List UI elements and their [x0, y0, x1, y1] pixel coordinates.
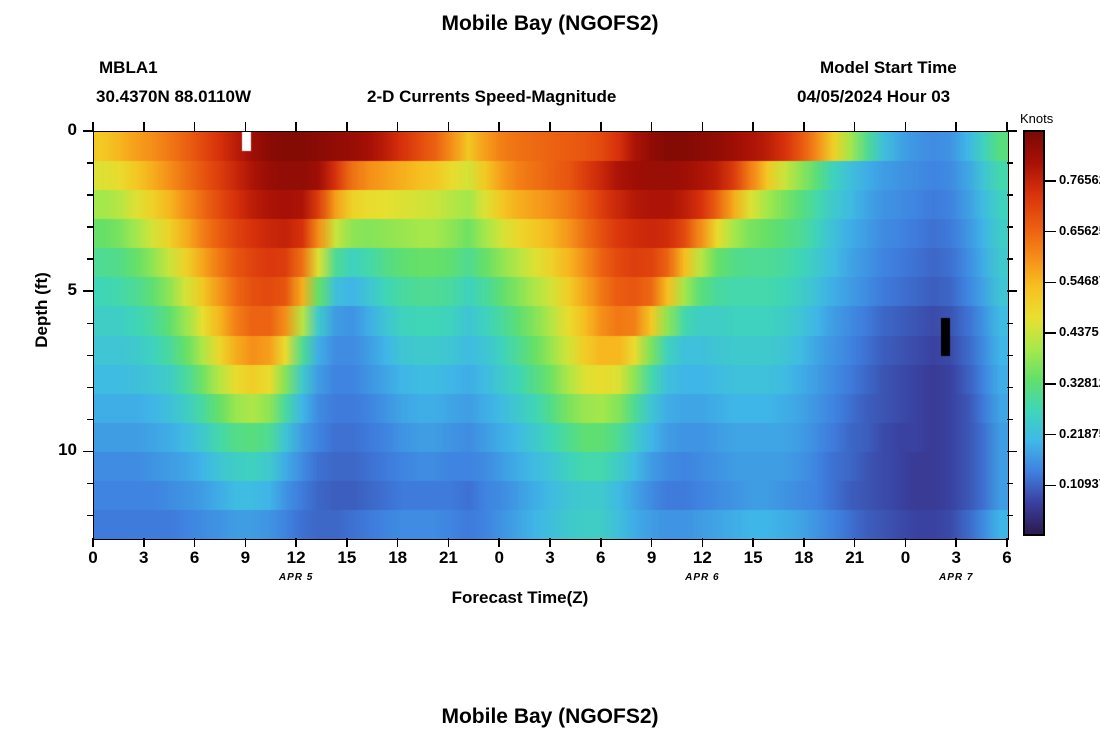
- y-tick-label: 0: [37, 120, 77, 140]
- y-tick-minor: [1007, 419, 1013, 421]
- colorbar-units-label: Knots: [1020, 111, 1053, 126]
- plot-subtitle: 2-D Currents Speed-Magnitude: [367, 87, 616, 107]
- y-tick-minor: [87, 515, 93, 517]
- x-tick: [346, 538, 348, 547]
- station-id-label: MBLA1: [99, 58, 158, 78]
- colorbar-tick-label: 0.109375: [1059, 476, 1100, 491]
- y-tick-major: [83, 290, 93, 292]
- x-tick: [854, 538, 856, 547]
- model-start-time-label: Model Start Time: [820, 58, 957, 78]
- x-tick-label: 9: [632, 548, 672, 568]
- x-tick: [955, 538, 957, 547]
- x-tick: [448, 538, 450, 547]
- x-tick: [702, 538, 704, 547]
- x-tick: [143, 538, 145, 547]
- y-tick-minor: [1007, 515, 1013, 517]
- x-tick: [752, 538, 754, 547]
- x-tick: [295, 122, 297, 131]
- x-tick: [92, 538, 94, 547]
- chart-page: Mobile Bay (NGOFS2) MBLA1 30.4370N 88.01…: [0, 0, 1100, 750]
- x-tick: [905, 122, 907, 131]
- colorbar-tick-label: 0.21875: [1059, 426, 1100, 441]
- x-tick: [397, 538, 399, 547]
- x-tick: [752, 122, 754, 131]
- y-tick-minor: [87, 323, 93, 325]
- page-title-bottom: Mobile Bay (NGOFS2): [0, 705, 1100, 729]
- x-tick: [397, 122, 399, 131]
- x-tick: [498, 122, 500, 131]
- model-start-time-value: 04/05/2024 Hour 03: [797, 87, 950, 107]
- x-tick-label: 3: [936, 548, 976, 568]
- x-tick: [905, 538, 907, 547]
- y-tick-minor: [87, 419, 93, 421]
- colorbar-tick-label: 0.546875: [1059, 273, 1100, 288]
- y-tick-minor: [1007, 387, 1013, 389]
- y-tick-major: [1007, 451, 1017, 453]
- colorbar-tick-label: 0.765625: [1059, 172, 1100, 187]
- x-tick-label: 18: [378, 548, 418, 568]
- y-tick-minor: [87, 162, 93, 164]
- y-tick-minor: [87, 483, 93, 485]
- y-tick-minor: [1007, 355, 1013, 357]
- colorbar: [1023, 130, 1045, 536]
- y-tick-major: [1007, 290, 1017, 292]
- x-tick: [245, 122, 247, 131]
- x-tick: [651, 122, 653, 131]
- x-tick-label: 3: [124, 548, 164, 568]
- x-date-label: APR 6: [667, 572, 737, 583]
- x-tick: [346, 122, 348, 131]
- y-tick-major: [83, 130, 93, 132]
- x-tick-label: 21: [428, 548, 468, 568]
- y-tick-minor: [1007, 483, 1013, 485]
- x-date-label: APR 7: [921, 572, 991, 583]
- x-tick-label: 18: [784, 548, 824, 568]
- y-tick-major: [1007, 130, 1017, 132]
- colorbar-tick: [1044, 485, 1056, 487]
- colorbar-gradient: [1025, 132, 1043, 534]
- x-tick: [245, 538, 247, 547]
- x-tick: [600, 122, 602, 131]
- x-tick: [600, 538, 602, 547]
- x-tick: [854, 122, 856, 131]
- x-tick-label: 0: [73, 548, 113, 568]
- y-tick-minor: [1007, 226, 1013, 228]
- y-tick-minor: [87, 194, 93, 196]
- x-tick: [803, 122, 805, 131]
- x-tick: [549, 122, 551, 131]
- colorbar-tick-label: 0.328125: [1059, 375, 1100, 390]
- x-tick: [549, 538, 551, 547]
- page-title-top: Mobile Bay (NGOFS2): [0, 12, 1100, 36]
- x-tick-label: 0: [885, 548, 925, 568]
- colorbar-tick-label: 0.65625: [1059, 223, 1100, 238]
- colorbar-tick: [1044, 282, 1056, 284]
- y-tick-minor: [87, 387, 93, 389]
- x-tick: [651, 538, 653, 547]
- colorbar-tick: [1044, 434, 1056, 436]
- x-tick-label: 15: [327, 548, 367, 568]
- x-tick-label: 0: [479, 548, 519, 568]
- x-tick-label: 6: [175, 548, 215, 568]
- colorbar-tick: [1044, 231, 1056, 233]
- x-tick: [702, 122, 704, 131]
- x-tick: [295, 538, 297, 547]
- x-date-label: APR 5: [261, 572, 331, 583]
- y-tick-minor: [87, 258, 93, 260]
- x-tick-label: 6: [987, 548, 1027, 568]
- y-tick-label: 5: [37, 280, 77, 300]
- x-axis-title: Forecast Time(Z): [0, 588, 1040, 608]
- y-tick-minor: [1007, 162, 1013, 164]
- x-tick-label: 9: [225, 548, 265, 568]
- y-axis-title: Depth (ft): [32, 250, 52, 370]
- y-tick-minor: [1007, 194, 1013, 196]
- y-tick-minor: [1007, 258, 1013, 260]
- y-tick-minor: [1007, 323, 1013, 325]
- x-tick: [803, 538, 805, 547]
- x-tick-label: 3: [530, 548, 570, 568]
- x-tick-label: 6: [581, 548, 621, 568]
- y-tick-label: 10: [37, 440, 77, 460]
- colorbar-tick: [1044, 383, 1056, 385]
- x-tick: [143, 122, 145, 131]
- y-tick-minor: [87, 355, 93, 357]
- colorbar-tick: [1044, 332, 1056, 334]
- heatmap-canvas[interactable]: [94, 132, 1008, 539]
- x-tick: [448, 122, 450, 131]
- colorbar-tick: [1044, 180, 1056, 182]
- x-tick: [955, 122, 957, 131]
- x-tick: [194, 538, 196, 547]
- x-tick: [498, 538, 500, 547]
- station-coordinates-label: 30.4370N 88.0110W: [96, 87, 251, 107]
- x-tick-label: 21: [835, 548, 875, 568]
- y-tick-minor: [87, 226, 93, 228]
- x-tick-label: 15: [733, 548, 773, 568]
- y-tick-major: [83, 451, 93, 453]
- x-tick-label: 12: [276, 548, 316, 568]
- x-tick-label: 12: [682, 548, 722, 568]
- heatmap-plot-area[interactable]: [93, 131, 1009, 540]
- x-tick: [194, 122, 196, 131]
- x-tick: [1006, 538, 1008, 547]
- colorbar-tick-label: 0.4375: [1059, 324, 1099, 339]
